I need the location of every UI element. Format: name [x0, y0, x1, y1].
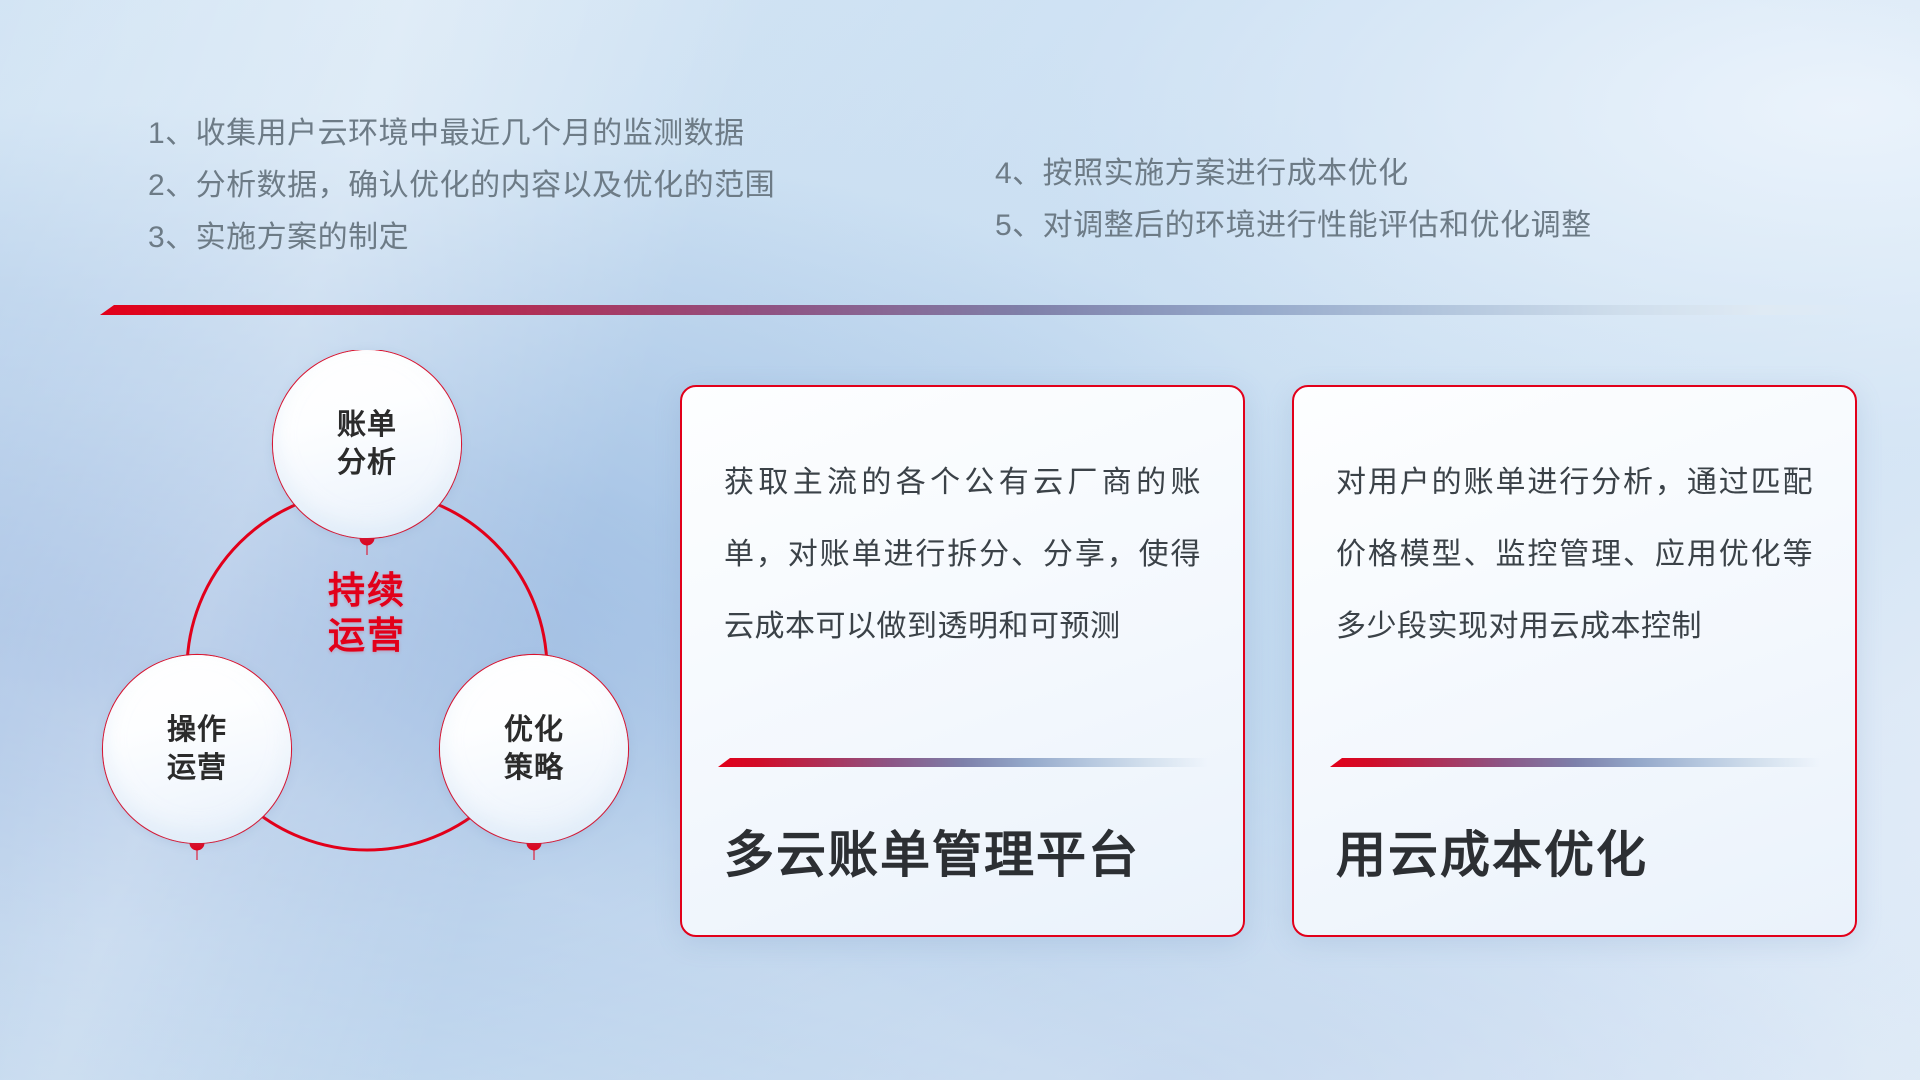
- venn-bubble-operation[interactable]: 操作 运营: [103, 655, 291, 843]
- venn-diagram: 账单 分析 操作 运营 优化 策略 持续 运营: [95, 350, 655, 950]
- card-cloud-cost-optimization[interactable]: 对用户的账单进行分析，通过匹配价格模型、监控管理、应用优化等多少段实现对用云成本…: [1292, 385, 1857, 937]
- venn-bubble-optimize-policy[interactable]: 优化 策略: [440, 655, 628, 843]
- card-2-body: 对用户的账单进行分析，通过匹配价格模型、监控管理、应用优化等多少段实现对用云成本…: [1336, 447, 1813, 663]
- card-multi-cloud-bill-platform[interactable]: 获取主流的各个公有云厂商的账单，对账单进行拆分、分享，使得云成本可以做到透明和可…: [680, 385, 1245, 937]
- card-1-rule: [718, 758, 1208, 767]
- section-divider-bar: [100, 305, 1870, 315]
- step-item-2: 2、分析数据，确认优化的内容以及优化的范围: [148, 160, 775, 212]
- step-item-4: 4、按照实施方案进行成本优化: [995, 148, 1592, 200]
- venn-bubble-top-line-1: 账单: [337, 406, 397, 444]
- venn-center-line-2: 运营: [273, 613, 461, 658]
- card-2-rule: [1330, 758, 1820, 767]
- card-1-body: 获取主流的各个公有云厂商的账单，对账单进行拆分、分享，使得云成本可以做到透明和可…: [724, 447, 1201, 663]
- steps-column-left: 1、收集用户云环境中最近几个月的监测数据 2、分析数据，确认优化的内容以及优化的…: [148, 108, 775, 264]
- step-item-5: 5、对调整后的环境进行性能评估和优化调整: [995, 200, 1592, 252]
- steps-list: 1、收集用户云环境中最近几个月的监测数据 2、分析数据，确认优化的内容以及优化的…: [0, 0, 1920, 300]
- card-2-title: 用云成本优化: [1336, 815, 1648, 887]
- card-1-title: 多云账单管理平台: [724, 815, 1140, 887]
- venn-center-line-1: 持续: [273, 568, 461, 613]
- venn-bubble-right-line-1: 优化: [504, 711, 564, 749]
- venn-bubble-left-line-2: 运营: [167, 749, 227, 787]
- step-item-3: 3、实施方案的制定: [148, 212, 775, 264]
- section-divider: [100, 305, 1870, 315]
- steps-column-right: 4、按照实施方案进行成本优化 5、对调整后的环境进行性能评估和优化调整: [995, 148, 1592, 252]
- venn-bubble-left-line-1: 操作: [167, 711, 227, 749]
- venn-center-label: 持续 运营: [273, 568, 461, 658]
- venn-bubble-bill-analysis[interactable]: 账单 分析: [273, 350, 461, 538]
- venn-bubble-top-line-2: 分析: [337, 444, 397, 482]
- venn-bubble-right-line-2: 策略: [504, 749, 564, 787]
- step-item-1: 1、收集用户云环境中最近几个月的监测数据: [148, 108, 775, 160]
